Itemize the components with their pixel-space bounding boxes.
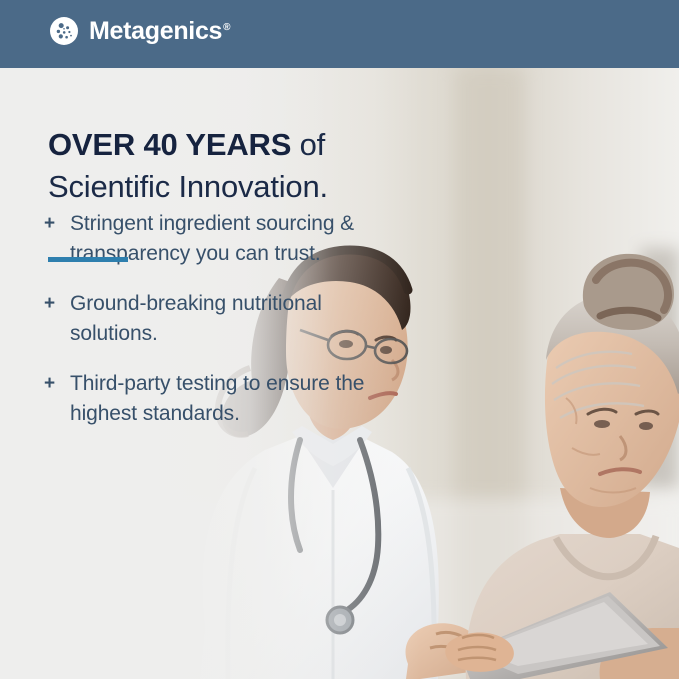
headline-strong: OVER 40 YEARS [48,127,291,162]
brand-wordmark-text: Metagenics [89,17,222,45]
brand-wordmark: Metagenics® [89,16,230,46]
promo-banner: OVER 40 YEARS of Scientific Innovation. … [0,0,679,679]
copy-column: OVER 40 YEARS of Scientific Innovation. … [0,68,420,679]
logo-svg [49,16,79,46]
metagenics-cell-logo-icon [49,16,79,46]
registered-trademark-icon: ® [223,22,230,33]
plus-icon: + [40,209,70,239]
list-item: + Third-party testing to ensure the high… [40,369,415,429]
plus-icon: + [40,369,70,399]
accent-divider [48,257,128,262]
headline-light: of [291,127,325,162]
list-item-label: Ground-breaking nutritional solutions. [70,289,415,349]
feature-list: + Stringent ingredient sourcing & transp… [40,209,415,449]
brand-header-bar: Metagenics® [0,0,679,68]
page-title: OVER 40 YEARS of Scientific Innovation. [48,125,408,207]
list-item-label: Third-party testing to ensure the highes… [70,369,415,429]
headline-line-2: Scientific Innovation. [48,167,408,207]
list-item: + Ground-breaking nutritional solutions. [40,289,415,349]
plus-icon: + [40,289,70,319]
brand-lockup: Metagenics® [49,16,230,46]
